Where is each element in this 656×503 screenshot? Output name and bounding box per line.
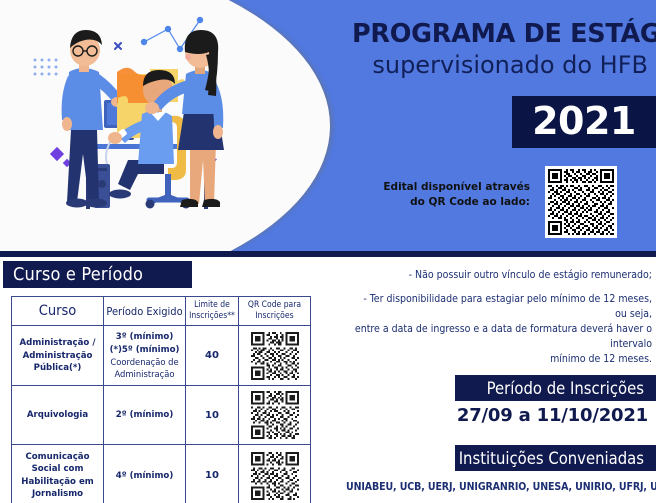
- institutions-label: Instituições Conveniadas: [459, 449, 656, 468]
- cell-curso: Arquivologia: [12, 386, 104, 445]
- qr-code-comunicacao: [251, 452, 299, 500]
- requirement-line: mínimo de 12 meses.: [352, 352, 652, 367]
- periodo-line: Coordenação de: [106, 356, 183, 368]
- curso-line: Comunicação: [14, 451, 101, 463]
- column-header-periodo: Período Exigido: [104, 297, 186, 326]
- cell-periodo: 2º (mínimo): [104, 386, 186, 445]
- inscriptions-period-banner: Período de Inscrições: [455, 375, 656, 401]
- qr-code-administracao: [251, 332, 299, 380]
- periodo-line: 2º (mínimo): [106, 409, 183, 421]
- section-banner-curso-periodo: Curso e Período: [3, 261, 192, 288]
- header-title-block: PROGRAMA DE ESTÁGIO supervisionado do HF…: [352, 20, 648, 80]
- inscriptions-dates: 27/09 a 11/10/2021: [352, 405, 648, 426]
- curso-line: Pública(*): [14, 362, 101, 374]
- cell-periodo: 4º (mínimo): [104, 445, 186, 503]
- curso-line: Social com: [14, 463, 101, 475]
- cell-qrcode[interactable]: [239, 445, 311, 503]
- requirement-line: - Ter disponibilidade para estagiar pelo…: [352, 292, 652, 322]
- requirement-item: - Ter disponibilidade para estagiar pelo…: [352, 292, 652, 367]
- institutions-banner: Instituições Conveniadas: [455, 445, 656, 471]
- column-header-limite-line2: Inscrições**: [188, 311, 236, 322]
- cell-curso: Comunicação Social com Habilitação em Jo…: [12, 445, 104, 503]
- header-banner: PROGRAMA DE ESTÁGIO supervisionado do HF…: [0, 0, 656, 251]
- table-row: Arquivologia 2º (mínimo) 10: [12, 386, 311, 445]
- page-title: PROGRAMA DE ESTÁGIO: [352, 20, 648, 48]
- column-header-qrcode-line1: QR Code para: [241, 300, 308, 311]
- column-header-qrcode: QR Code para Inscrições: [239, 297, 311, 326]
- section-banner-label: Curso e Período: [3, 264, 143, 285]
- cell-periodo: 3º (mínimo) (*)5º (mínimo) Coordenação d…: [104, 326, 186, 386]
- header-divider: [0, 251, 656, 257]
- year-label: 2021: [532, 102, 636, 142]
- curso-line: Arquivologia: [14, 409, 101, 421]
- cell-qrcode[interactable]: [239, 386, 311, 445]
- qr-code-arquivologia: [251, 391, 299, 439]
- requirement-item: - Não possuir outro vínculo de estágio r…: [352, 268, 652, 283]
- page-subtitle: supervisionado do HFB: [352, 50, 648, 80]
- course-table: Curso Período Exigido Limite de Inscriçõ…: [11, 296, 311, 503]
- year-badge: 2021: [512, 96, 656, 148]
- curso-line: Jornalismo: [14, 488, 101, 500]
- qr-code-edital[interactable]: [545, 166, 617, 238]
- cell-qrcode[interactable]: [239, 326, 311, 386]
- curso-line: Administração: [14, 350, 101, 362]
- cell-limite: 10: [186, 386, 239, 445]
- column-header-qrcode-line2: Inscrições: [241, 311, 308, 322]
- poster-root: PROGRAMA DE ESTÁGIO supervisionado do HF…: [0, 0, 656, 503]
- periodo-line: 3º (mínimo): [106, 331, 183, 343]
- curso-line: Habilitação em: [14, 476, 101, 488]
- teamwork-illustration: [22, 12, 292, 240]
- edital-instruction-text: Edital disponível através do QR Code ao …: [370, 180, 530, 210]
- table-header-row: Curso Período Exigido Limite de Inscriçõ…: [12, 297, 311, 326]
- inscriptions-period-label: Período de Inscrições: [487, 379, 656, 398]
- table-row: Administração / Administração Pública(*)…: [12, 326, 311, 386]
- cell-limite: 10: [186, 445, 239, 503]
- column-header-limite-line1: Limite de: [188, 300, 236, 311]
- cell-limite: 40: [186, 326, 239, 386]
- column-header-limite: Limite de Inscrições**: [186, 297, 239, 326]
- table-row: Comunicação Social com Habilitação em Jo…: [12, 445, 311, 503]
- curso-line: Administração /: [14, 337, 101, 349]
- periodo-line: Administração: [106, 368, 183, 380]
- column-header-curso: Curso: [12, 297, 104, 326]
- periodo-line: 4º (mínimo): [106, 470, 183, 482]
- requirements-list: - Não possuir outro vínculo de estágio r…: [352, 268, 652, 375]
- periodo-line: (*)5º (mínimo): [106, 344, 183, 356]
- cell-curso: Administração / Administração Pública(*): [12, 326, 104, 386]
- institutions-list: UNIABEU, UCB, UERJ, UNIGRANRIO, UNESA, U…: [346, 481, 650, 493]
- requirement-line: entre a data de ingresso e a data de for…: [352, 322, 652, 352]
